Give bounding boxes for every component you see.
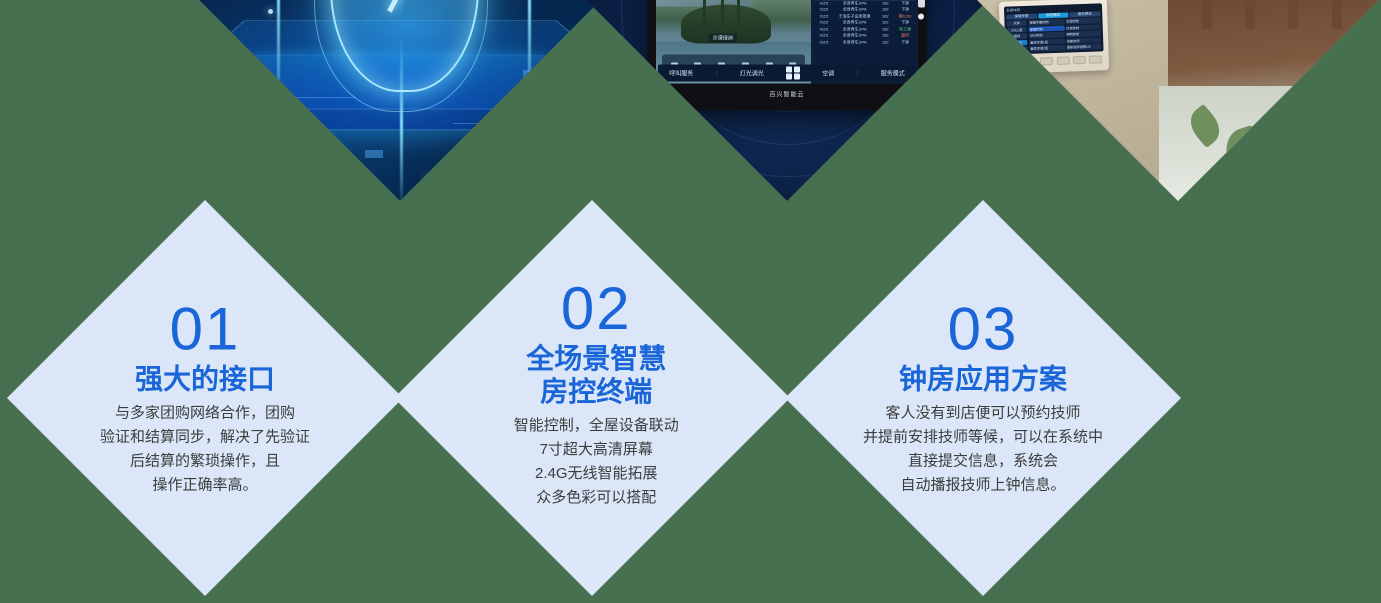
room-control-tablet[interactable]: 智能终端 沙漠绿洲	[647, 0, 927, 111]
feature-image-diamond-1	[199, 0, 601, 201]
feature-description-3: 客人没有到店便可以预约技师 并提前安排技师等候，可以在系统中 直接提交信息，系统…	[808, 402, 1158, 498]
railing-post	[1288, 0, 1298, 29]
panel-list-left[interactable]: 保健专案控制 保健控制 SPA控制 套房空调1层 套房空调2层	[1029, 19, 1066, 52]
light-beam	[528, 0, 531, 132]
cell-room: 0115	[814, 39, 834, 45]
tree-shape	[703, 0, 706, 28]
option-spa-control[interactable]: SPA控制	[1029, 32, 1065, 39]
scene-label: 沙漠绿洲	[709, 33, 737, 42]
tablet-action-bar[interactable]: 呼叫服务 | 灯光调光 空调 | 服务模式	[658, 65, 916, 82]
action-lighting[interactable]: 灯光调光	[740, 69, 764, 78]
feature-title-2: 全场景智慧 房控终端	[431, 342, 761, 408]
circuit-chip	[365, 150, 383, 158]
tree-shape	[721, 0, 724, 28]
hw-button-4[interactable]	[1057, 56, 1070, 64]
light-beam	[277, 0, 280, 132]
feature-number-3: 03	[808, 299, 1158, 361]
railing-post	[1332, 0, 1342, 29]
option-bathroom-control[interactable]: 卫浴控制	[1065, 17, 1101, 24]
side-btn-call[interactable]: CALL服	[1007, 27, 1027, 33]
divider: |	[857, 70, 859, 76]
circuit-board-shield-hologram-art	[199, 0, 601, 201]
option-suite-ac-2[interactable]: 套房空调2层	[1030, 45, 1066, 52]
plant-leaf-icon	[1269, 141, 1310, 195]
option-health-plan-control[interactable]: 保健专案控制	[1029, 19, 1065, 26]
feature-card-1-content: 01 强大的接口 与多家团购网络合作，团购 验证和结算同步，解决了先验证 后结算…	[40, 299, 370, 498]
circuit-node	[268, 9, 273, 14]
feature-title-3: 钟房应用方案	[808, 363, 1158, 396]
cell-service: 全身养生SPA	[834, 39, 876, 46]
apps-grid-icon[interactable]	[786, 66, 800, 80]
infographic-stage: 智能终端 沙漠绿洲	[0, 0, 1381, 603]
planter-pot	[1216, 178, 1278, 200]
hw-button-5[interactable]	[1073, 56, 1086, 64]
hw-button-2[interactable]	[1024, 58, 1037, 66]
wall-control-panel[interactable]: 多媒体网 保健专案 房控模式 服务模式 点钟 CALL服 圆钟 冷控区 点钟	[999, 0, 1109, 74]
hw-button-6[interactable]	[1089, 55, 1102, 63]
tree-shape	[737, 0, 740, 28]
railing-post	[1202, 0, 1212, 29]
feature-card-3-content: 03 钟房应用方案 客人没有到店便可以预约技师 并提前安排技师等候，可以在系统中…	[808, 299, 1158, 498]
option-illumination-control[interactable]: 照明控制	[1066, 31, 1102, 38]
circuit-node	[426, 176, 430, 180]
side-btn-clock[interactable]: 点钟	[1007, 20, 1027, 26]
feature-image-diamond-2: 智能终端 沙漠绿洲	[586, 0, 988, 201]
feature-card-2-content: 02 全场景智慧 房控终端 智能控制，全屋设备联动 7寸超大高清屏幕 2.4G无…	[431, 278, 761, 510]
circuit-chip	[523, 70, 537, 80]
circuit-trace	[233, 97, 356, 98]
panel-screen[interactable]: 多媒体网 保健专案 房控模式 服务模式 点钟 CALL服 圆钟 冷控区 点钟	[1004, 3, 1104, 54]
divider: |	[716, 70, 718, 76]
feature-text-diamond-3: 03 钟房应用方案 客人没有到店便可以预约技师 并提前安排技师等候，可以在系统中…	[785, 200, 1181, 596]
tablet-side-strip	[918, 0, 925, 8]
feature-text-diamond-1: 01 强大的接口 与多家团购网络合作，团购 验证和结算同步，解决了先验证 后结算…	[7, 200, 403, 596]
circuit-chip	[224, 53, 236, 65]
action-service-mode[interactable]: 服务模式	[881, 68, 905, 77]
feature-number-2: 02	[431, 278, 761, 340]
smart-room-control-tablet-art: 智能终端 沙漠绿洲	[586, 0, 988, 201]
feature-number-1: 01	[40, 299, 370, 361]
panel-list-right[interactable]: 卫浴控制 灯控控制 照明控制 全屋空调 更新技师排钟1/2	[1065, 17, 1102, 50]
side-btn-round[interactable]: 圆钟	[1007, 33, 1027, 39]
option-update-tech-queue[interactable]: 更新技师排钟1/2	[1066, 44, 1102, 51]
side-btn-cooling[interactable]: 冷控区	[1008, 40, 1028, 46]
feature-image-diamond-3: 多媒体网 保健专案 房控模式 服务模式 点钟 CALL服 圆钟 冷控区 点钟	[977, 0, 1379, 201]
feature-description-2: 智能控制，全屋设备联动 7寸超大高清屏幕 2.4G无线智能拓展 众多色彩可以搭配	[431, 414, 761, 510]
panel-side-buttons[interactable]: 点钟 CALL服 圆钟 冷控区 点钟	[1007, 20, 1028, 53]
brand-logo-text: 百兴智能云	[769, 89, 804, 98]
panel-hardware-buttons[interactable]	[1006, 55, 1104, 66]
cell-status: 下钟	[895, 39, 915, 46]
feature-description-1: 与多家团购网络合作，团购 验证和结算同步，解决了先验证 后结算的繁琐操作，且 操…	[40, 402, 370, 498]
action-call-service[interactable]: 呼叫服务	[669, 69, 693, 78]
circuit-trace	[453, 123, 567, 124]
hw-button-1[interactable]	[1008, 58, 1021, 66]
feature-text-diamond-2: 02 全场景智慧 房控终端 智能控制，全屋设备联动 7寸超大高清屏幕 2.4G无…	[394, 200, 790, 596]
tablet-footer: 百兴智能云	[656, 84, 918, 104]
action-air-conditioning[interactable]: 空调	[822, 69, 834, 78]
panel-body: 点钟 CALL服 圆钟 冷控区 点钟 保健专案控制 保健控制 SPA控制 套房	[1007, 17, 1102, 52]
railing-post	[1245, 0, 1255, 29]
wall-mounted-control-panel-photo-art: 多媒体网 保健专案 房控模式 服务模式 点钟 CALL服 圆钟 冷控区 点钟	[977, 0, 1379, 201]
cell-tech: 162	[875, 39, 895, 45]
hw-button-3[interactable]	[1040, 57, 1053, 65]
panel-option-lists[interactable]: 保健专案控制 保健控制 SPA控制 套房空调1层 套房空调2层 卫浴控制 灯控控…	[1029, 17, 1102, 51]
feature-title-1: 强大的接口	[40, 363, 370, 396]
table-row: 0115 全身养生SPA 162 下钟	[814, 39, 915, 46]
side-btn-clock2[interactable]: 点钟	[1008, 46, 1028, 52]
tablet-camera-icon	[918, 13, 924, 19]
tablet-screen[interactable]: 沙漠绿洲 22:35	[656, 0, 918, 83]
floor-surface	[1159, 86, 1379, 200]
